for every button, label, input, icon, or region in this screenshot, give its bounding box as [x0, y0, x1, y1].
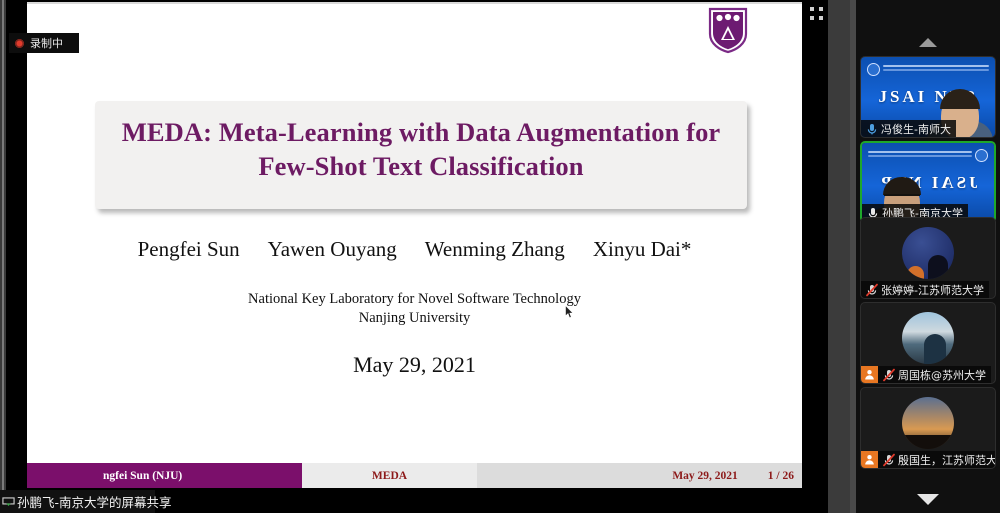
banner-text-lines: [883, 65, 989, 74]
recording-label: 录制中: [30, 35, 63, 51]
screen-share-area: MEDA: Meta-Learning with Data Augmentati…: [0, 0, 828, 513]
avatar-silhouette: [902, 435, 954, 449]
window-left-edge: [0, 0, 6, 513]
mic-muted-icon: [882, 368, 896, 382]
shield-icon: [706, 6, 750, 54]
participant-tile[interactable]: JSAI NLP 冯俊生-南师大: [860, 56, 996, 138]
avatar: [902, 397, 954, 449]
host-badge-icon: [861, 451, 878, 468]
participant-name-bar: 殷国生，江苏师范大学: [861, 451, 995, 468]
recording-indicator[interactable]: 录制中: [9, 33, 79, 53]
mouse-cursor-icon: [565, 305, 574, 319]
participant-name: 冯俊生-南师大: [881, 121, 951, 137]
participant-name-bar: 张婷婷-江苏师范大学: [861, 281, 989, 298]
affiliation-line1: National Key Laboratory for Novel Softwa…: [27, 290, 802, 309]
screen-share-icon: [2, 495, 15, 508]
mic-muted-icon: [882, 453, 896, 467]
zoom-meeting-window: MEDA: Meta-Learning with Data Augmentati…: [0, 0, 1000, 513]
author-3: Wenming Zhang: [425, 237, 565, 262]
footer-date: May 29, 2021: [672, 470, 737, 482]
video-banner-header: [867, 62, 989, 76]
footer-right: May 29, 2021 1 / 26: [477, 463, 802, 488]
slide-date: May 29, 2021: [27, 352, 802, 378]
author-1: Pengfei Sun: [138, 237, 240, 262]
author-4: Xinyu Dai*: [593, 237, 692, 262]
participant-name-bar: 周国栋@苏州大学: [861, 366, 991, 383]
video-banner-text: JSAI NLP: [862, 173, 994, 193]
host-badge-icon: [861, 366, 878, 383]
affiliation-line2: Nanjing University: [27, 309, 802, 328]
seal-icon: [975, 149, 988, 162]
participant-name: 张婷婷-江苏师范大学: [881, 282, 984, 298]
participant-name-bar: 冯俊生-南师大: [861, 120, 956, 137]
participant-tile[interactable]: 殷国生，江苏师范大学: [860, 387, 996, 469]
scroll-down-button[interactable]: [856, 489, 1000, 509]
slide-affiliation: National Key Laboratory for Novel Softwa…: [27, 290, 802, 328]
record-dot-icon: [15, 39, 24, 48]
slide-authors: Pengfei SunYawen OuyangWenming ZhangXiny…: [27, 237, 802, 262]
mic-muted-icon: [865, 283, 879, 297]
video-banner-header: [868, 148, 988, 162]
chevron-down-icon: [917, 494, 939, 505]
scroll-up-button[interactable]: [856, 32, 1000, 52]
participant-name: 周国栋@苏州大学: [898, 367, 986, 383]
slide-title-panel: MEDA: Meta-Learning with Data Augmentati…: [95, 101, 747, 209]
participant-name: 殷国生，江苏师范大学: [898, 452, 996, 468]
seal-icon: [867, 63, 880, 76]
avatar-silhouette: [924, 334, 946, 364]
avatar: [902, 227, 954, 279]
participant-tile-active-speaker[interactable]: JSAI NLP 孙鹏飞-南京大学: [860, 141, 996, 223]
panel-divider[interactable]: [828, 0, 856, 513]
person-glasses: [884, 194, 920, 203]
banner-text-lines: [868, 151, 972, 160]
author-2: Yawen Ouyang: [268, 237, 397, 262]
person-icon: [864, 369, 875, 380]
slide-title-line2: Few-Shot Text Classification: [95, 149, 747, 183]
avatar-silhouette: [928, 255, 948, 279]
slide-title: MEDA: Meta-Learning with Data Augmentati…: [95, 115, 747, 183]
mic-on-icon: [865, 122, 879, 136]
participant-tile[interactable]: 张婷婷-江苏师范大学: [860, 217, 996, 299]
participant-tile[interactable]: 周国栋@苏州大学: [860, 302, 996, 384]
person-icon: [864, 454, 875, 465]
footer-author: ngfei Sun (NJU): [27, 463, 302, 488]
drag-grip-icon[interactable]: [810, 7, 824, 20]
slide-title-line1: MEDA: Meta-Learning with Data Augmentati…: [95, 115, 747, 149]
slide-top-rule: [27, 2, 802, 4]
share-owner-banner: 孙鹏飞-南京大学的屏幕共享: [0, 490, 155, 513]
share-owner-label: 孙鹏飞-南京大学的屏幕共享: [17, 492, 172, 511]
presentation-slide: MEDA: Meta-Learning with Data Augmentati…: [27, 2, 802, 488]
chevron-up-icon: [919, 38, 937, 47]
slide-footer-bar: ngfei Sun (NJU) MEDA May 29, 2021 1 / 26: [27, 463, 802, 488]
participants-panel: JSAI NLP 冯俊生-南师大: [856, 0, 1000, 513]
nanjing-university-shield-logo: [706, 6, 750, 54]
avatar: [902, 312, 954, 364]
footer-page-number: 1 / 26: [768, 470, 794, 482]
footer-short-title: MEDA: [302, 463, 477, 488]
avatar-silhouette-secondary: [907, 266, 924, 279]
